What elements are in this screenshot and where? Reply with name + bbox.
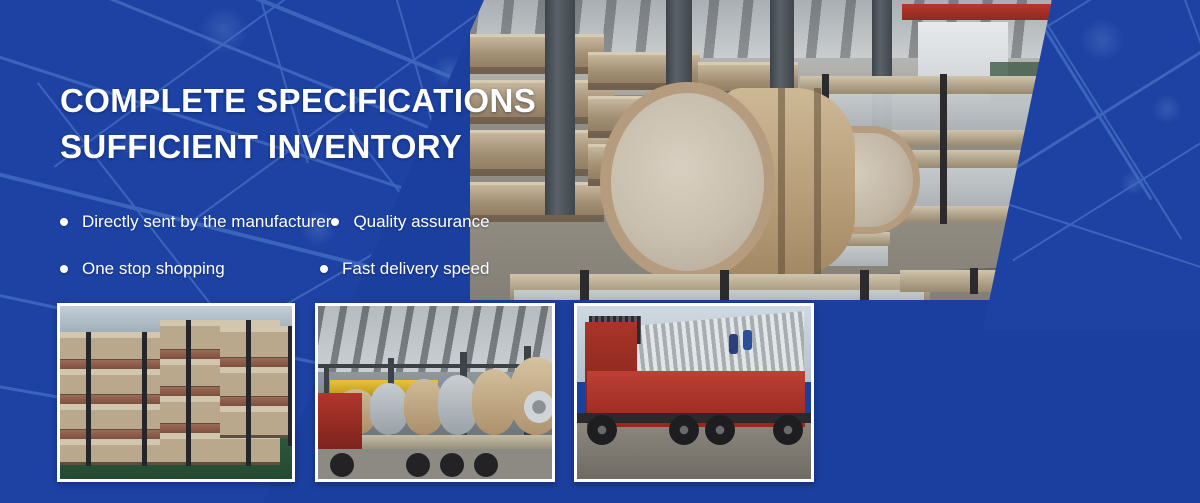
feature-row: One stop shopping Fast delivery speed	[60, 245, 580, 292]
feature-item-4: Fast delivery speed	[320, 245, 580, 292]
feature-row: Directly sent by the manufacturer Qualit…	[60, 198, 580, 245]
feature-list: Directly sent by the manufacturer Qualit…	[60, 198, 580, 292]
thumbnail-3[interactable]	[574, 303, 814, 482]
feature-item-1: Directly sent by the manufacturer	[60, 198, 331, 245]
feature-label: Fast delivery speed	[342, 259, 489, 279]
page-title: COMPLETE SPECIFICATIONS SUFFICIENT INVEN…	[60, 78, 536, 170]
thumbnail-2[interactable]	[315, 303, 555, 482]
promo-banner: COMPLETE SPECIFICATIONS SUFFICIENT INVEN…	[0, 0, 1200, 503]
feature-label: Directly sent by the manufacturer	[82, 212, 331, 232]
feature-item-2: Quality assurance	[331, 198, 580, 245]
feature-item-3: One stop shopping	[60, 245, 320, 292]
headline-line-2: SUFFICIENT INVENTORY	[60, 124, 536, 170]
steel-coil-primary	[600, 82, 840, 282]
bullet-dot-icon	[60, 218, 68, 226]
feature-label: One stop shopping	[82, 259, 225, 279]
bullet-dot-icon	[331, 218, 339, 226]
headline-line-1: COMPLETE SPECIFICATIONS	[60, 78, 536, 124]
feature-label: Quality assurance	[353, 212, 489, 232]
thumbnail-1[interactable]	[57, 303, 295, 482]
bullet-dot-icon	[320, 265, 328, 273]
bullet-dot-icon	[60, 265, 68, 273]
